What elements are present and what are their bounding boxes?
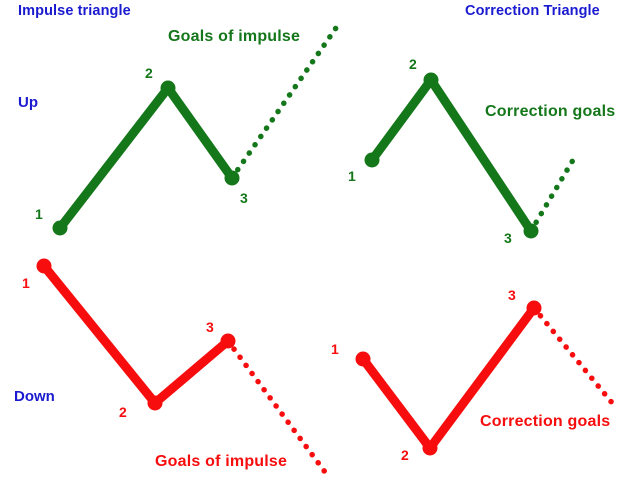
diagram-canvas: Impulse triangle Correction Triangle Up … [0,0,640,480]
impulse-down-group [37,259,326,473]
impulse-up-point-1-dot [53,221,68,236]
heading-correction-triangle: Correction Triangle [465,4,600,19]
point-label-correction-up-1: 1 [348,169,356,183]
point-label-impulse-down-1: 1 [22,276,30,290]
point-label-impulse-down-2: 2 [119,405,127,419]
impulse-down-point-1-dot [37,259,52,274]
impulse-up-point-3-dot [225,171,240,186]
annotation-goals-of-impulse-up: Goals of impulse [168,29,300,45]
direction-label-up: Up [18,95,38,110]
correction-down-point-1-dot [356,352,371,367]
impulse-up-path [60,88,232,228]
impulse-up-goal-dotted [232,28,336,178]
correction-down-goal-dotted [534,308,613,404]
correction-down-point-3-dot [527,301,542,316]
impulse-down-point-3-dot [221,334,236,349]
annotation-goals-of-impulse-down: Goals of impulse [155,454,287,470]
point-label-impulse-up-2: 2 [145,66,153,80]
impulse-up-group [53,28,337,236]
point-label-correction-up-2: 2 [409,57,417,71]
point-label-correction-down-3: 3 [508,288,516,302]
annotation-correction-goals-up: Correction goals [485,104,615,120]
point-label-impulse-up-3: 3 [240,191,248,205]
correction-up-point-1-dot [365,153,380,168]
correction-down-point-2-dot [423,441,438,456]
impulse-down-point-2-dot [148,396,163,411]
correction-up-point-2-dot [424,73,439,88]
direction-label-down: Down [14,389,55,404]
correction-down-group [356,301,614,456]
point-label-correction-up-3: 3 [504,231,512,245]
impulse-up-point-2-dot [161,81,176,96]
impulse-down-path [44,266,228,403]
correction-up-group [365,73,577,239]
heading-impulse-triangle: Impulse triangle [18,4,131,19]
correction-up-goal-dotted [531,155,576,231]
point-label-correction-down-1: 1 [331,342,339,356]
point-label-impulse-up-1: 1 [35,207,43,221]
point-label-impulse-down-3: 3 [206,320,214,334]
correction-up-point-3-dot [524,224,539,239]
point-label-correction-down-2: 2 [401,448,409,462]
triangles-svg [0,0,640,480]
annotation-correction-goals-down: Correction goals [480,414,610,430]
